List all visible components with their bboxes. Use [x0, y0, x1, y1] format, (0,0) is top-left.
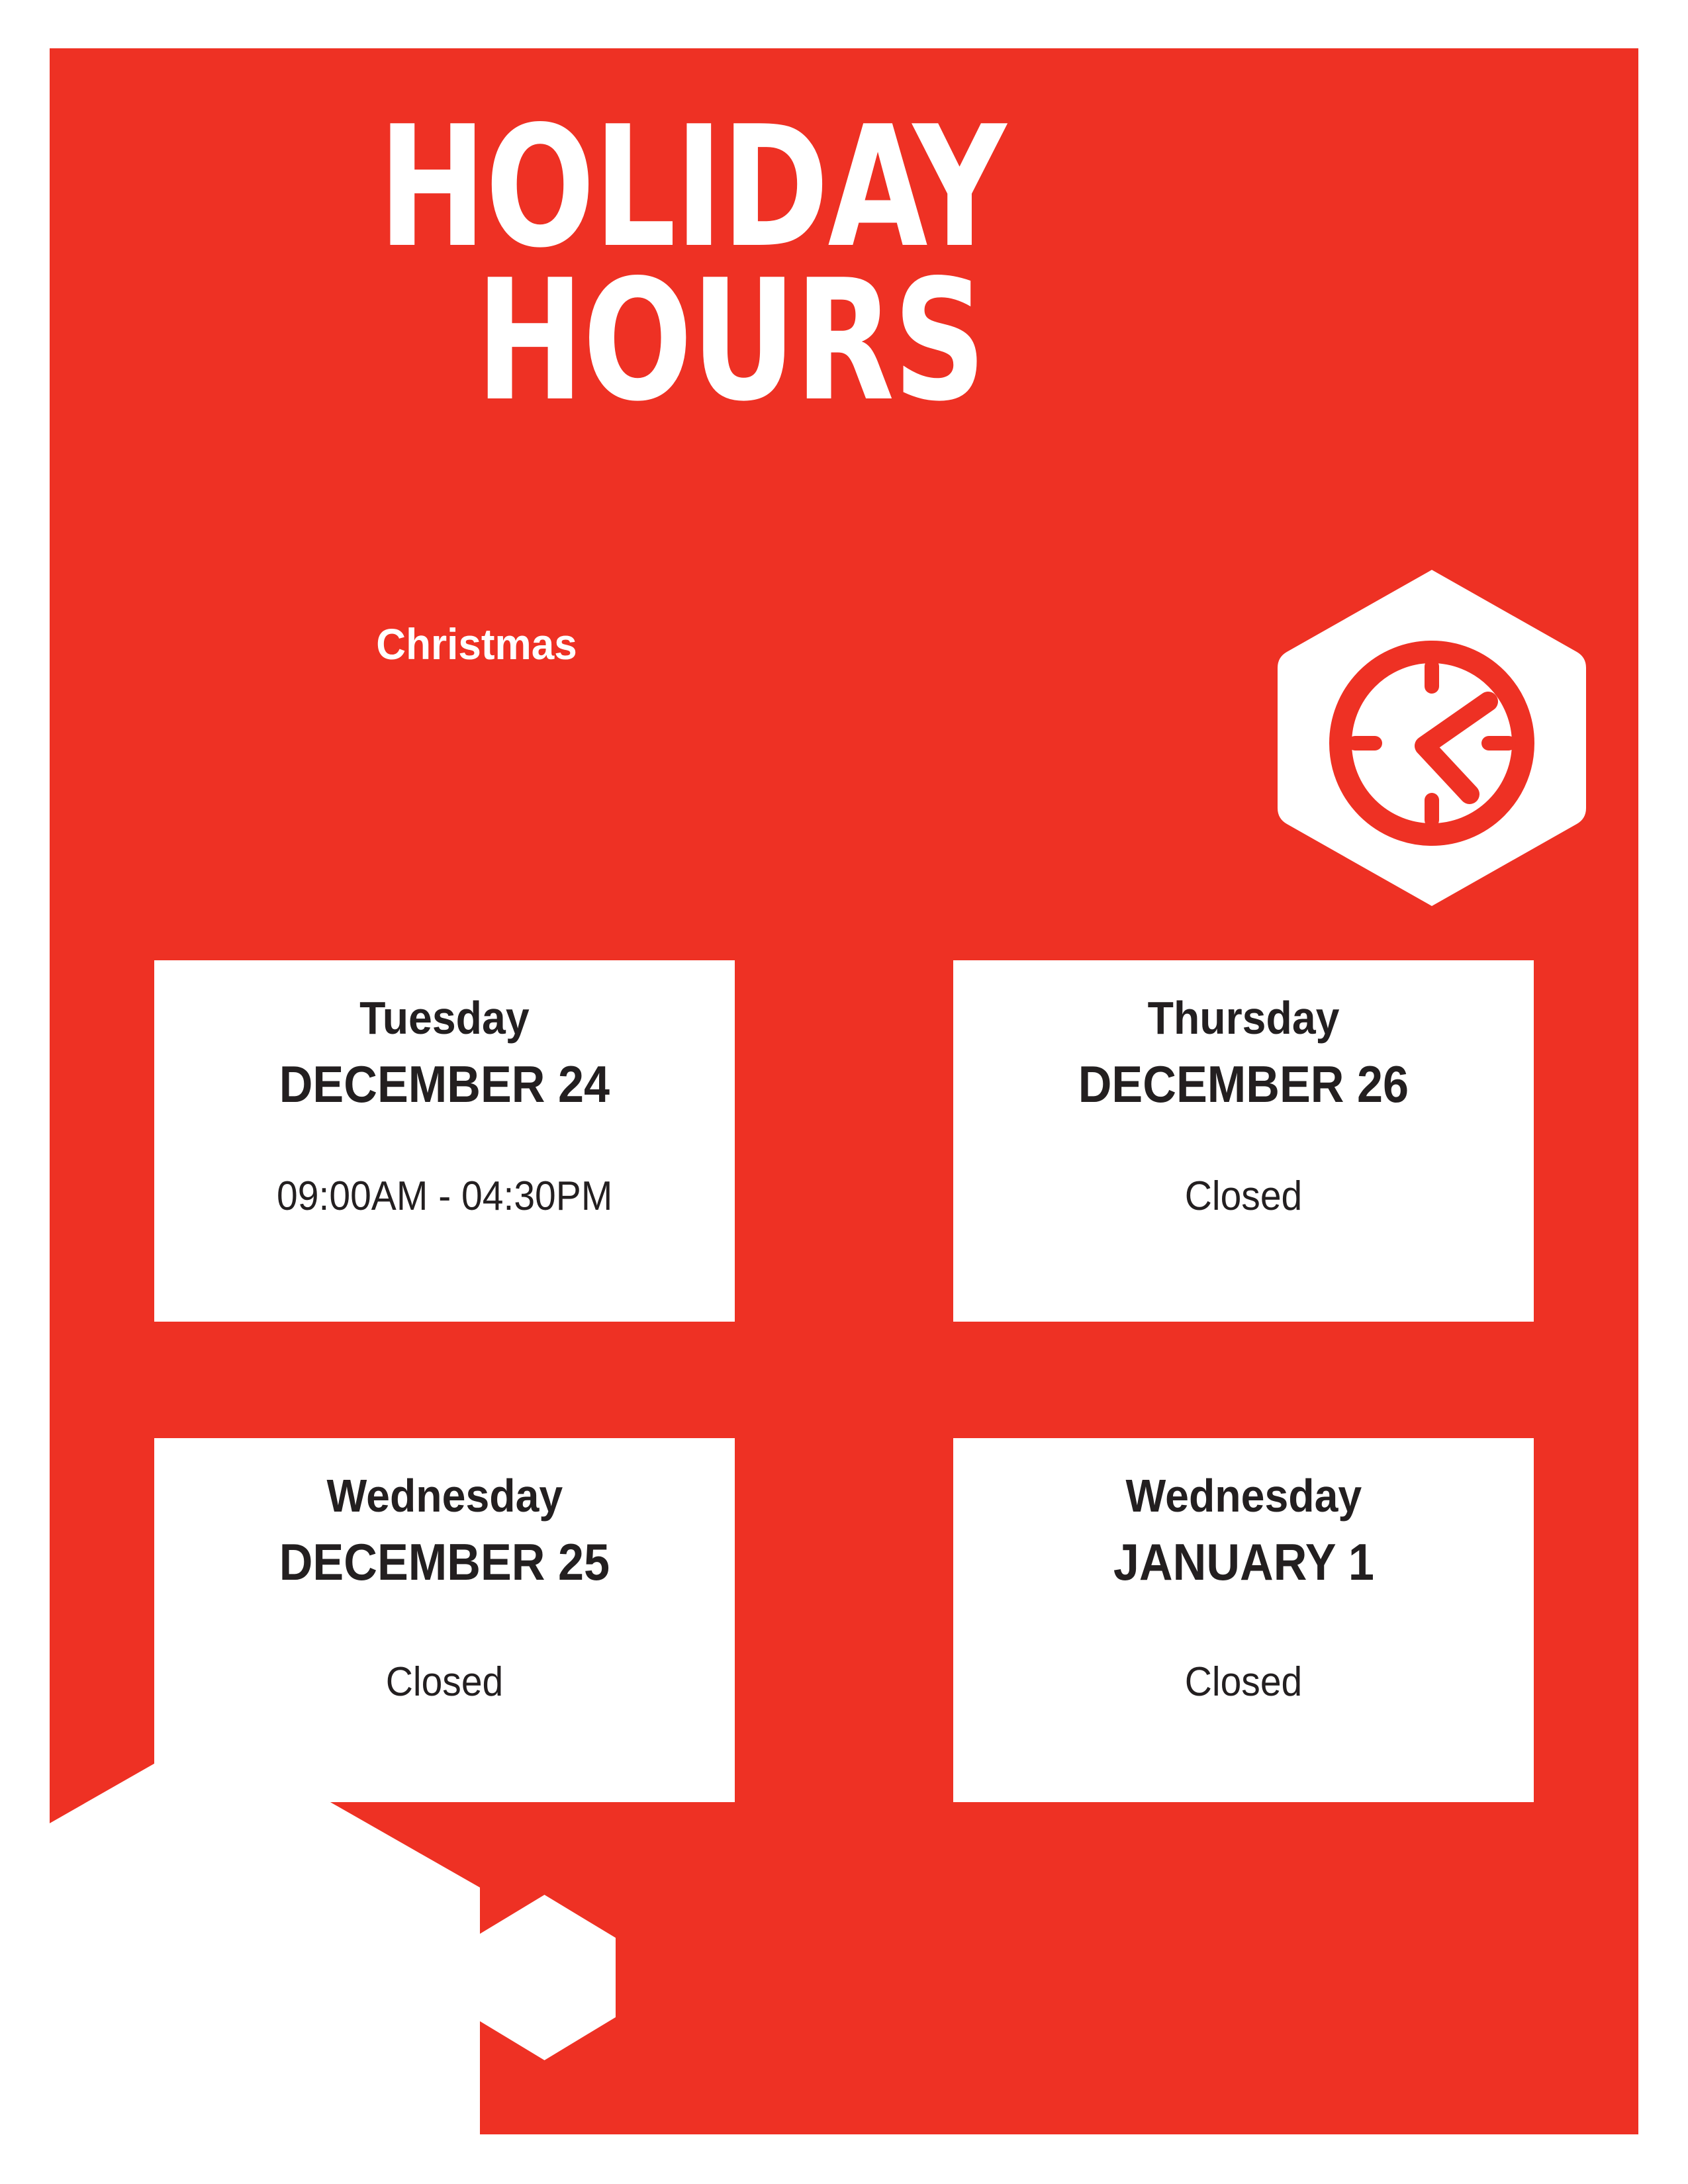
- schedule-card: Wednesday JANUARY 1 Closed: [953, 1438, 1534, 1802]
- schedule-card-date: DECEMBER 25: [279, 1536, 610, 1588]
- schedule-card-date: DECEMBER 26: [1078, 1058, 1409, 1110]
- schedule-card: Tuesday DECEMBER 24 09:00AM - 04:30PM: [154, 960, 735, 1322]
- page-title-line-2: HOURS: [178, 265, 1282, 418]
- page-title: HOLIDAY HOURS: [140, 111, 1244, 418]
- page-subtitle: Christmas: [75, 619, 878, 669]
- page-title-line-1: HOLIDAY: [140, 111, 1244, 265]
- clock-icon: [1278, 566, 1586, 910]
- schedule-card-day: Wednesday: [326, 1473, 563, 1519]
- poster-red-panel: HOLIDAY HOURS Christmas: [50, 48, 1638, 2134]
- schedule-card-date: JANUARY 1: [1113, 1536, 1374, 1588]
- schedule-card-hours: Closed: [386, 1662, 504, 1703]
- schedule-card-day: Thursday: [1148, 995, 1340, 1041]
- schedule-card-hours: 09:00AM - 04:30PM: [277, 1176, 612, 1217]
- holiday-hours-poster: HOLIDAY HOURS Christmas: [0, 0, 1688, 2184]
- schedule-card: Wednesday DECEMBER 25 Closed: [154, 1438, 735, 1802]
- schedule-card: Thursday DECEMBER 26 Closed: [953, 960, 1534, 1322]
- schedule-card-grid: Tuesday DECEMBER 24 09:00AM - 04:30PM Th…: [154, 960, 1534, 1802]
- hexagon-decoration-small: [473, 1895, 616, 2060]
- schedule-card-hours: Closed: [1185, 1662, 1303, 1703]
- schedule-card-day: Wednesday: [1125, 1473, 1362, 1519]
- schedule-card-date: DECEMBER 24: [279, 1058, 610, 1110]
- schedule-card-hours: Closed: [1185, 1176, 1303, 1217]
- schedule-card-day: Tuesday: [359, 995, 530, 1041]
